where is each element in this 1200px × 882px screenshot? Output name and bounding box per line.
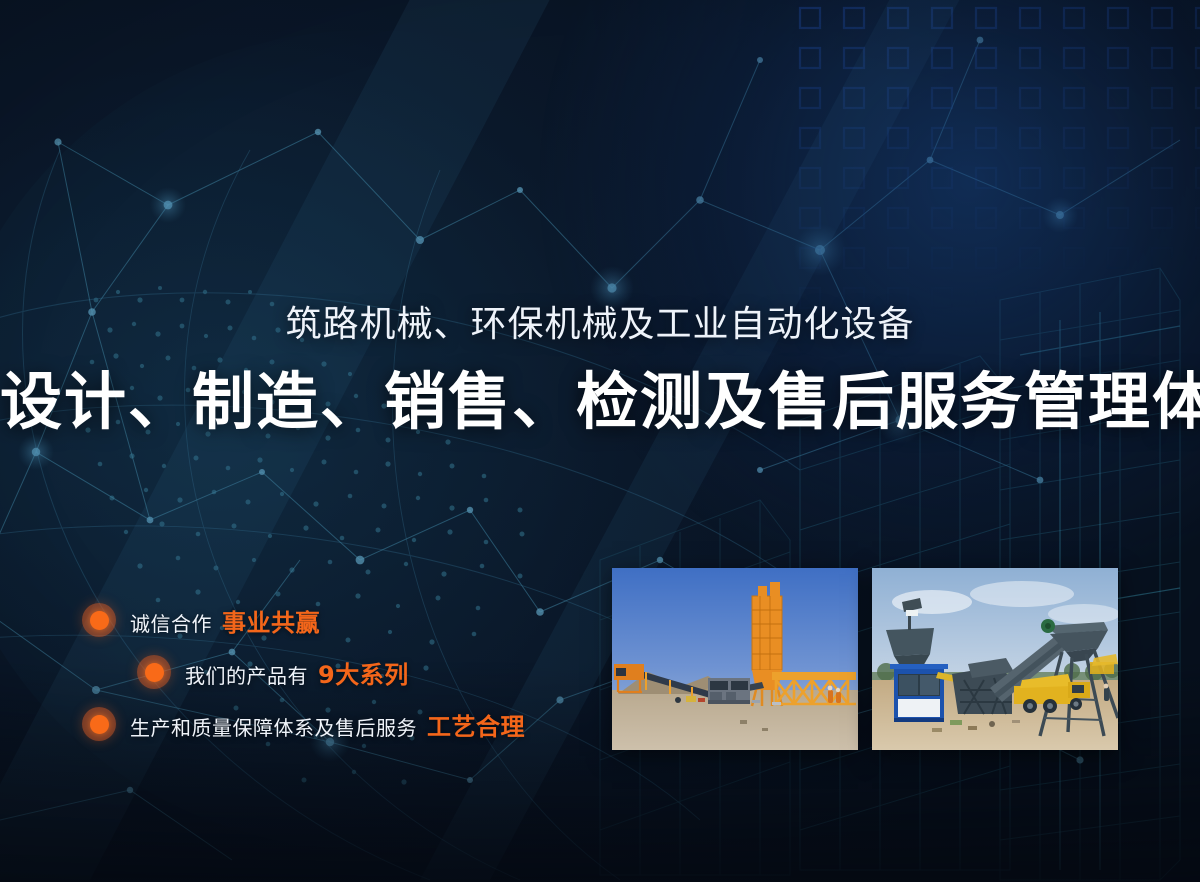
bullet-text: 我们的产品有 9大系列 [185,655,409,690]
batching-plant-illustration [612,568,858,750]
bullet-accent-text: 9大系列 [318,655,409,690]
bullet-dot-icon [137,655,171,689]
banner-headline: 设计、制造、销售、检测及售后服务管理体系 [0,366,1200,438]
photo-gallery [612,568,1118,750]
mobile-mixing-plant-photo [872,568,1118,750]
concrete-batching-plant-photo [612,568,858,750]
banner-subtitle: 筑路机械、环保机械及工业自动化设备 [0,303,1200,347]
banner-content: 筑路机械、环保机械及工业自动化设备 设计、制造、销售、检测及售后服务管理体系 诚… [0,0,1200,882]
bullet-dot-icon [82,603,116,637]
bullet-accent-text: 工艺合理 [427,707,525,742]
promo-banner: 筑路机械、环保机械及工业自动化设备 设计、制造、销售、检测及售后服务管理体系 诚… [0,0,1200,882]
list-item: 诚信合作 事业共赢 [0,596,600,644]
list-item: 我们的产品有 9大系列 [0,648,600,696]
mixing-plant-illustration [872,568,1118,750]
bullet-accent-text: 事业共赢 [222,603,320,638]
bullet-text: 生产和质量保障体系及售后服务 工艺合理 [130,707,525,742]
list-item: 生产和质量保障体系及售后服务 工艺合理 [0,700,600,748]
bullet-plain-text: 我们的产品有 [185,660,308,689]
bullet-plain-text: 生产和质量保障体系及售后服务 [130,712,417,741]
feature-bullet-list: 诚信合作 事业共赢 我们的产品有 9大系列 生产和质量保障体系及售后服务 工艺合… [0,596,600,752]
bullet-dot-icon [82,707,116,741]
bullet-text: 诚信合作 事业共赢 [130,603,320,638]
bullet-plain-text: 诚信合作 [130,608,212,637]
